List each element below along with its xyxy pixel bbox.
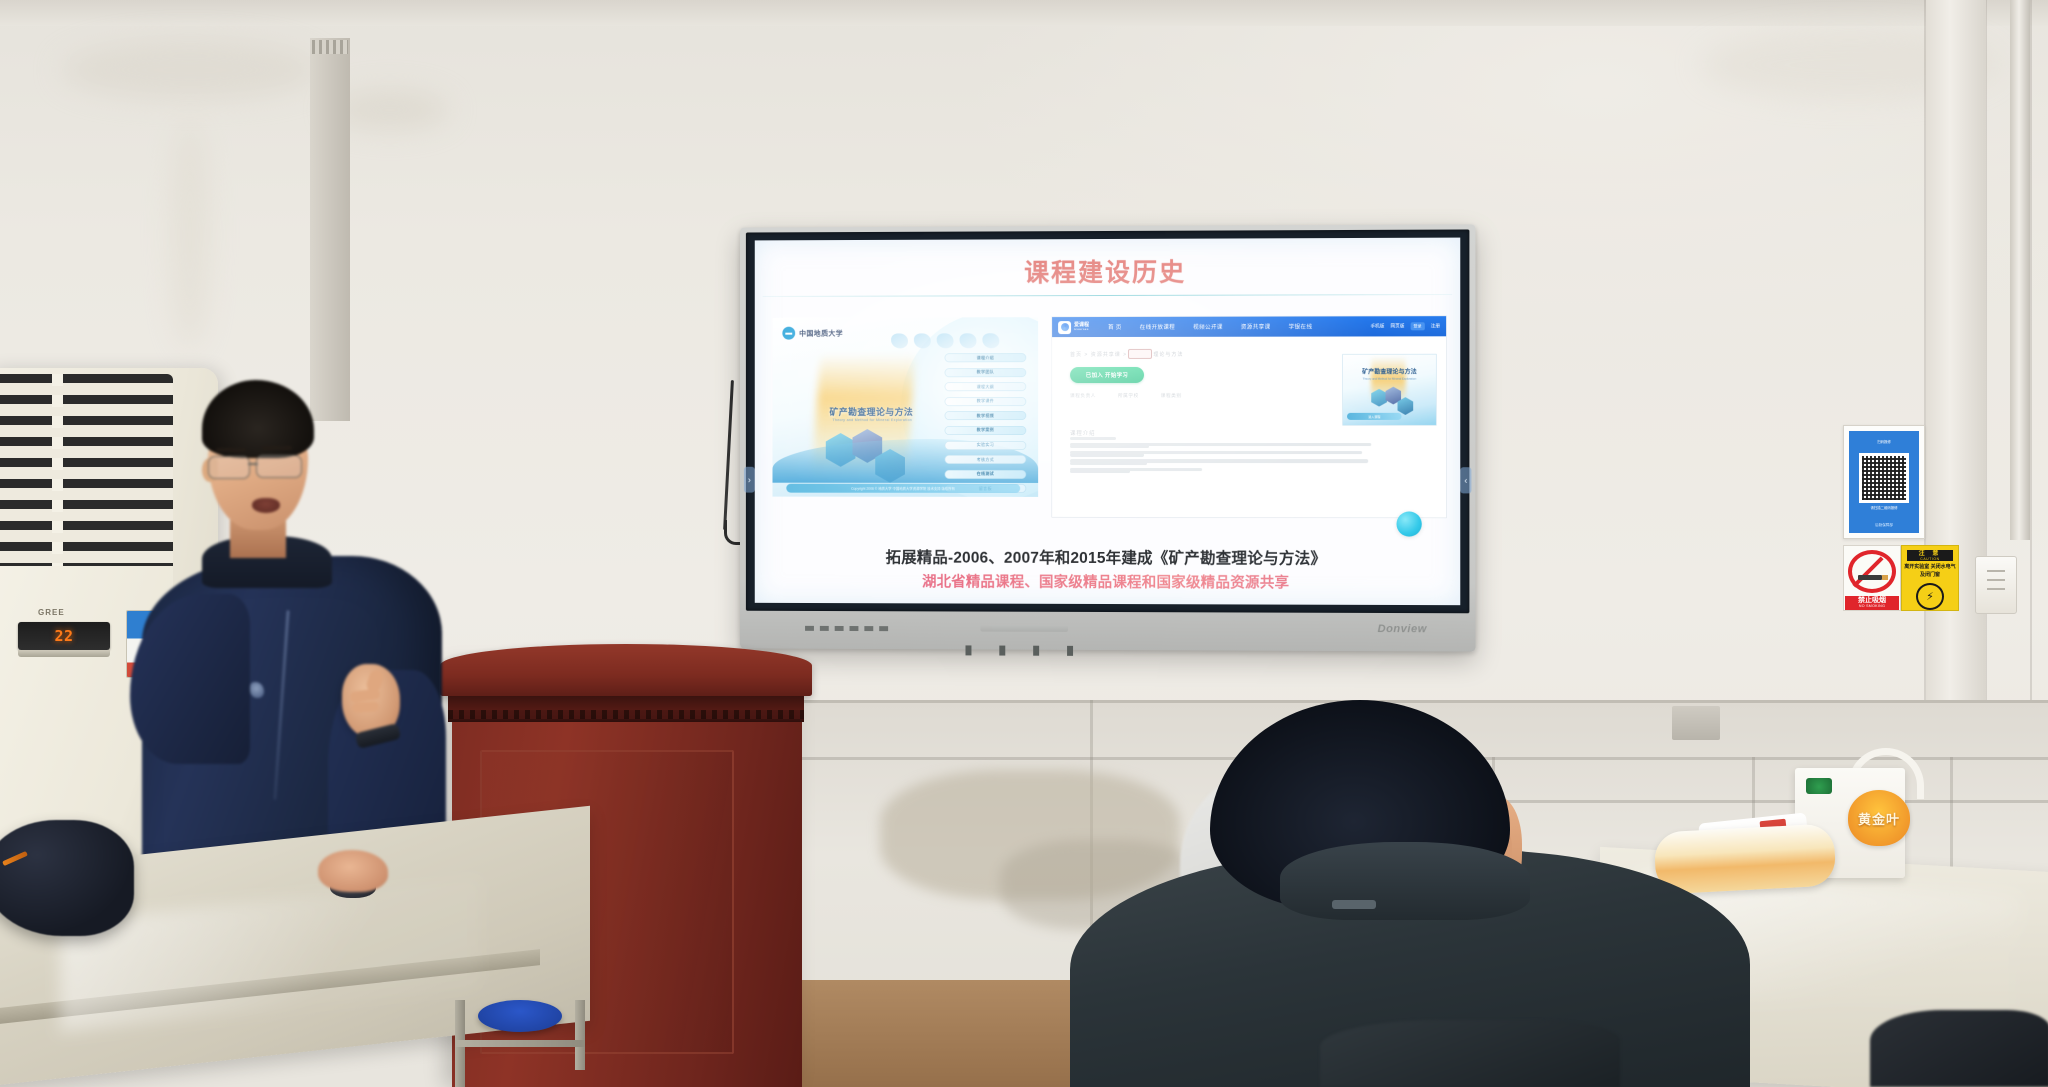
podium-top-surface xyxy=(440,644,812,696)
qr-poster-footer: 后勤保障部 xyxy=(1875,523,1893,528)
wall-stain xyxy=(170,120,210,350)
slide-screen[interactable]: 课程建设历史 中国地质大学 矿产勘查理论与方法 Theory and xyxy=(755,238,1461,606)
no-smoking-icon xyxy=(1848,550,1896,593)
left-website-screenshot: 中国地质大学 矿产勘查理论与方法 Theory and Method for M… xyxy=(772,317,1038,497)
tote-bag-small-logo xyxy=(1806,778,1832,794)
icourse-logo-en: icourses xyxy=(1074,328,1089,332)
presenter-hand-on-mouse xyxy=(318,850,388,892)
caution-sign: 注 意 CAUTION 离开实验室 关闭水电气及闭门窗 ⚡ xyxy=(1901,545,1959,611)
nav-item[interactable]: 在线开放课程 xyxy=(1131,323,1184,331)
enter-course-button[interactable]: 进入课程 xyxy=(1347,413,1402,420)
caution-body-text: 离开实验室 关闭水电气及闭门窗 xyxy=(1902,564,1958,579)
thumb xyxy=(365,668,385,693)
thumbnail-title: 矿产勘查理论与方法 xyxy=(1343,367,1436,376)
qr-poster: 扫码报修 请扫描二维码报修 后勤保障部 xyxy=(1843,425,1925,539)
nav-item[interactable]: 学银在线 xyxy=(1280,322,1322,330)
menu-item[interactable]: 教学课件 xyxy=(945,397,1027,406)
course-tag-chip xyxy=(1128,349,1152,359)
section-heading: 课程介绍 xyxy=(1070,429,1096,437)
menu-item[interactable]: 考核方式 xyxy=(945,455,1027,464)
ceiling-edge xyxy=(0,0,2048,26)
ac-display-panel: 22 xyxy=(18,622,110,650)
nav-item[interactable]: 视频公开课 xyxy=(1184,323,1232,331)
presenter-eyebrow xyxy=(262,446,292,450)
ac-temperature-readout: 22 xyxy=(54,627,73,645)
sidebar-text-block xyxy=(1070,437,1156,478)
wall-socket[interactable] xyxy=(1975,556,2017,614)
mobile-version-link[interactable]: 手机版 xyxy=(1370,323,1384,329)
display-prev-button[interactable]: › xyxy=(744,467,755,493)
black-coat-on-table xyxy=(0,820,134,936)
display-bezel: 课程建设历史 中国地质大学 矿产勘查理论与方法 Theory and xyxy=(746,229,1470,613)
tote-bag-logo: 黄金叶 xyxy=(1848,790,1910,846)
presenter-eyebrow xyxy=(216,448,246,452)
course-thumbnail[interactable]: 矿产勘查理论与方法 Theory and Method for Mineral … xyxy=(1343,354,1436,424)
menu-item[interactable]: 教学视频 xyxy=(945,411,1027,420)
menu-item[interactable]: 教学团队 xyxy=(945,368,1027,377)
left-site-footer: Copyright 2006 © 地质大学 中国地质大学资源学院 技术支持 版权… xyxy=(786,484,1020,493)
no-smoking-sign: 禁止吸烟 NO SMOKING xyxy=(1843,545,1901,611)
decorative-dot xyxy=(1396,511,1421,536)
audience-far-bottom xyxy=(1320,1020,1620,1087)
left-site-menu[interactable]: 课程介绍 教学团队 课程大纲 教学课件 教学视频 教学案例 实验实习 考核方式 … xyxy=(945,353,1027,497)
icourse-logo-icon xyxy=(1058,321,1071,334)
classroom-scene: GREE 22 扫码报修 请扫描二维码报修 后勤保障部 xyxy=(0,0,2048,1087)
menu-item[interactable]: 课程介绍 xyxy=(945,353,1027,362)
display-brand-label: Donview xyxy=(1378,623,1427,635)
podium-dentil-trim xyxy=(448,710,804,719)
course-meta-item: 课程类别 xyxy=(1161,393,1182,399)
login-button[interactable]: 登录 xyxy=(1410,322,1424,330)
icourse-page-body: 首页 > 资源共享课 > 矿产勘查理论与方法 已加入 开始学习 课程负责人 所属… xyxy=(1052,336,1446,517)
ac-button-strip[interactable] xyxy=(18,650,110,657)
caution-label-en: CAUTION xyxy=(1920,557,1939,561)
qr-poster-body: 扫码报修 请扫描二维码报修 后勤保障部 xyxy=(1849,431,1919,533)
no-smoking-label-cn: 禁止吸烟 xyxy=(1858,597,1886,604)
slide-caption-line-1: 拓展精品-2006、2007年和2015年建成《矿产勘查理论与方法》 xyxy=(755,545,1461,569)
audience-far-right xyxy=(1870,1010,2048,1087)
finger xyxy=(352,701,380,713)
course-cover-title: 矿产勘查理论与方法 xyxy=(812,405,931,418)
display-chin: Donview xyxy=(748,615,1468,648)
course-meta-row: 课程负责人 所属学校 课程类别 xyxy=(1070,393,1182,399)
electric-hazard-icon: ⚡ xyxy=(1916,583,1944,610)
display-mount-legs xyxy=(965,645,1085,655)
nav-item[interactable]: 首 页 xyxy=(1099,323,1131,331)
interactive-display[interactable]: 课程建设历史 中国地质大学 矿产勘查理论与方法 Theory and xyxy=(740,224,1475,651)
wall-stain xyxy=(60,40,320,100)
navbar-right-actions[interactable]: 手机版 网页版 登录 注册 xyxy=(1370,322,1440,330)
jacket-logo xyxy=(250,682,264,698)
podium-molding xyxy=(448,696,804,722)
course-meta-item: 课程负责人 xyxy=(1070,393,1096,399)
qr-poster-caption: 请扫描二维码报修 xyxy=(1870,506,1897,511)
podium-side-column xyxy=(310,38,350,421)
caution-banner: 注 意 CAUTION xyxy=(1907,550,1953,561)
glasses-lens-left xyxy=(208,456,250,479)
audience-collar-tag xyxy=(1332,900,1376,909)
course-cover-subtitle: Theory and Method for Mineral Exploratio… xyxy=(808,418,937,422)
university-logo: 中国地质大学 xyxy=(782,327,843,340)
slide-caption-line-2: 湖北省精品课程、国家级精品课程和国家级精品资源共享 xyxy=(755,570,1461,593)
presenter-mouth xyxy=(252,498,280,513)
slide-title: 课程建设历史 xyxy=(755,252,1461,290)
decorative-glyphs xyxy=(891,329,1020,351)
university-name: 中国地质大学 xyxy=(799,328,843,338)
icourse-logo-text: 爱课程 icourses xyxy=(1074,322,1089,332)
menu-item[interactable]: 实验实习 xyxy=(945,441,1027,450)
menu-item[interactable]: 在线测试 xyxy=(945,470,1027,479)
display-ir-sensor xyxy=(980,625,1068,632)
menu-item[interactable]: 教学案例 xyxy=(945,426,1027,435)
wall-pipe xyxy=(2010,0,2030,540)
podium-side-trim xyxy=(312,40,348,54)
ac-brand-label: GREE xyxy=(38,608,65,617)
qr-poster-heading: 扫码报修 xyxy=(1877,440,1891,445)
menu-item[interactable]: 课程大纲 xyxy=(945,382,1027,391)
nav-item[interactable]: 资源共享课 xyxy=(1232,323,1280,331)
presenter-hair xyxy=(202,380,314,458)
thumbnail-subtitle: Theory and Method for Mineral Exploratio… xyxy=(1343,377,1436,381)
course-meta-item: 所属学校 xyxy=(1118,393,1139,399)
no-smoking-label-en: NO SMOKING xyxy=(1859,604,1885,609)
icourse-logo[interactable]: 爱课程 icourses xyxy=(1058,321,1089,334)
start-learning-button[interactable]: 已加入 开始学习 xyxy=(1070,367,1144,383)
register-link[interactable]: 注册 xyxy=(1431,323,1440,329)
logo-mark-icon xyxy=(782,327,795,340)
web-version-link[interactable]: 网页版 xyxy=(1390,323,1404,329)
cigarette-icon xyxy=(1858,575,1882,580)
table-legs xyxy=(455,1000,595,1087)
display-next-button[interactable]: ‹ xyxy=(1460,467,1471,493)
icourse-navbar[interactable]: 爱课程 icourses 首 页 在线开放课程 视频公开课 资源共享课 学银在线… xyxy=(1052,316,1446,337)
no-smoking-banner: 禁止吸烟 NO SMOKING xyxy=(1845,596,1899,610)
glasses-lens-right xyxy=(256,455,302,478)
ac-vent-grille xyxy=(0,374,173,566)
presenter-glasses xyxy=(206,456,310,478)
thumbnail-hexagons xyxy=(1371,387,1394,402)
display-control-buttons[interactable] xyxy=(805,626,888,631)
right-website-screenshot: 爱课程 icourses 首 页 在线开放课程 视频公开课 资源共享课 学银在线… xyxy=(1052,316,1446,517)
slide-title-rule xyxy=(763,294,1453,297)
qr-code-icon xyxy=(1859,453,1909,503)
breadcrumb[interactable]: 首页 > 资源共享课 > 矿产勘查理论与方法 xyxy=(1070,351,1183,358)
audience-collar xyxy=(1280,842,1530,920)
